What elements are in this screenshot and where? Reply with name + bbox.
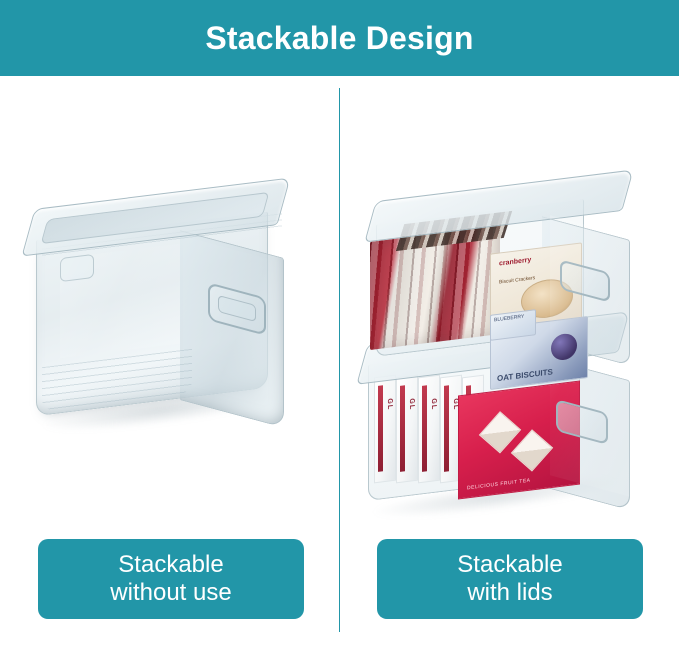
- snack-box-white-2: GL: [396, 375, 418, 484]
- box-stripe: [422, 385, 427, 472]
- cranberry-brand-label: cranberry: [499, 257, 531, 268]
- caption-left-line2: without use: [110, 579, 231, 607]
- bin-front-grip: [60, 254, 94, 282]
- panel-left: Stackable without use: [0, 76, 339, 662]
- snack-box-white-1: GL: [374, 375, 396, 484]
- panel-right: GL GL GL GL GL DELICIOUS FRUIT TEA: [340, 76, 679, 662]
- caption-left: Stackable without use: [38, 539, 304, 619]
- oat-biscuits-label: OAT BISCUITS: [497, 367, 553, 383]
- cranberry-sub-label: Biscuit Crackers: [499, 275, 535, 285]
- box-stripe: [400, 385, 405, 472]
- box-stripe: [378, 385, 383, 472]
- caption-left-line1: Stackable: [118, 551, 223, 579]
- caption-right-line1: Stackable: [457, 551, 562, 579]
- pink-tea-package: DELICIOUS FRUIT TEA: [458, 381, 580, 500]
- box-letters: GL: [408, 398, 415, 411]
- caption-right-line2: with lids: [467, 579, 552, 607]
- bin-side-face: [180, 230, 284, 428]
- product-image-left: [0, 76, 339, 546]
- box-letters: GL: [386, 398, 393, 411]
- snack-box-white-3: GL: [418, 375, 440, 484]
- box-letters: GL: [430, 398, 437, 411]
- box-stripe: [444, 385, 449, 472]
- header-banner: Stackable Design: [0, 0, 679, 76]
- blueberry-graphic: [551, 332, 577, 361]
- caption-right: Stackable with lids: [377, 539, 643, 619]
- tea-bag-graphic-2: [511, 429, 553, 471]
- product-image-right: GL GL GL GL GL DELICIOUS FRUIT TEA: [340, 76, 679, 546]
- page-title: Stackable Design: [205, 22, 473, 54]
- pink-package-text: DELICIOUS FRUIT TEA: [467, 478, 531, 492]
